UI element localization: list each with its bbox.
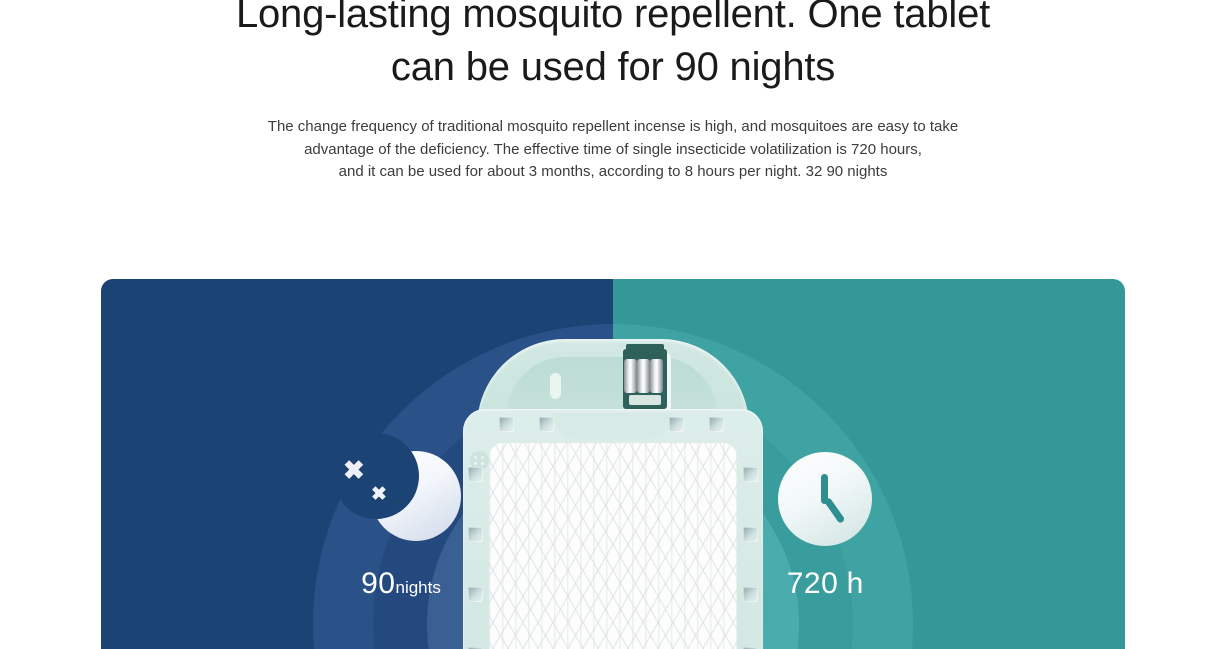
cartridge-cylinder bbox=[650, 359, 663, 393]
headline-line-2: can be used for 90 nights bbox=[0, 41, 1226, 94]
device-mesh-screen bbox=[489, 443, 737, 649]
clock-icon bbox=[778, 452, 872, 546]
product-feature-page: Long-lasting mosquito repellent. One tab… bbox=[0, 0, 1226, 649]
cartridge-cylinder bbox=[624, 359, 637, 393]
device-body-lip bbox=[553, 413, 673, 439]
device-tab bbox=[499, 417, 514, 432]
stat-nights-unit: nights bbox=[396, 578, 441, 597]
stat-nights-value: 90 bbox=[361, 567, 395, 600]
cartridge-cap bbox=[626, 344, 664, 352]
hero-panel: ✖ ✖ 90nights 720 h bbox=[101, 279, 1125, 649]
device-tab bbox=[539, 417, 554, 432]
stat-hours-unit bbox=[838, 567, 846, 600]
subcopy-line-2: advantage of the deficiency. The effecti… bbox=[0, 139, 1226, 162]
cartridge-base bbox=[629, 395, 661, 405]
device-tab bbox=[743, 527, 758, 542]
device-tab bbox=[743, 467, 758, 482]
device-tab bbox=[468, 467, 483, 482]
page-title: Long-lasting mosquito repellent. One tab… bbox=[0, 0, 1226, 94]
device-tab bbox=[709, 417, 724, 432]
page-description: The change frequency of traditional mosq… bbox=[0, 116, 1226, 184]
crescent-moon-icon: ✖ ✖ bbox=[341, 449, 461, 549]
mesh-texture bbox=[489, 443, 737, 649]
mosquito-repellent-device bbox=[463, 339, 763, 649]
cartridge-cylinder bbox=[637, 359, 650, 393]
subcopy-line-3: and it can be used for about 3 months, a… bbox=[0, 161, 1226, 184]
text-block: Long-lasting mosquito repellent. One tab… bbox=[0, 0, 1226, 184]
device-tab bbox=[468, 587, 483, 602]
device-indicator-pill bbox=[550, 373, 561, 399]
device-dome-inset bbox=[507, 357, 717, 415]
device-tab bbox=[468, 527, 483, 542]
device-tab bbox=[743, 587, 758, 602]
clock-minute-hand bbox=[824, 497, 846, 524]
device-tab bbox=[669, 417, 684, 432]
subcopy-line-1: The change frequency of traditional mosq… bbox=[0, 116, 1226, 139]
sparkle-small-icon: ✖ bbox=[371, 485, 387, 504]
stat-hours-value: 720 bbox=[787, 567, 839, 600]
headline-line-1: Long-lasting mosquito repellent. One tab… bbox=[0, 0, 1226, 41]
stat-hours-unit-text: h bbox=[847, 567, 864, 600]
sparkle-large-icon: ✖ bbox=[343, 457, 365, 483]
device-body bbox=[463, 409, 763, 649]
repellent-tablet-cartridge bbox=[623, 349, 667, 409]
